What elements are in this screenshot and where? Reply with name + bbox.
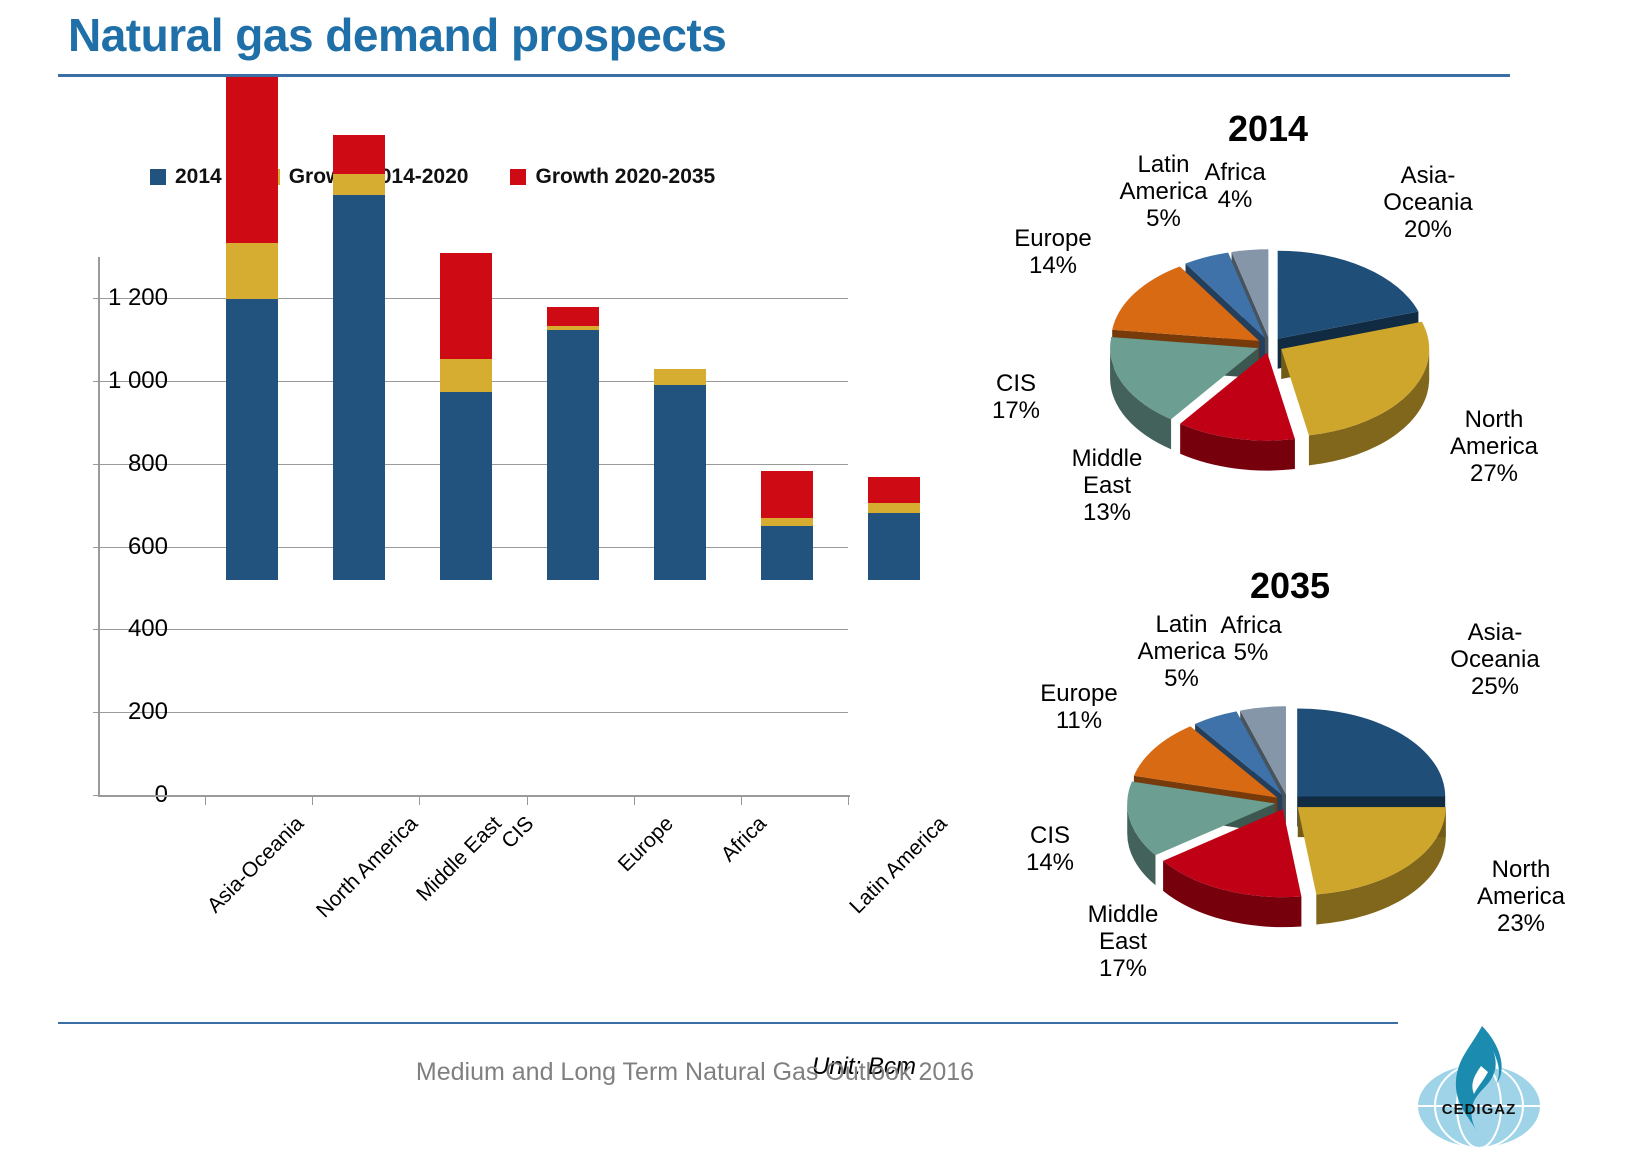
x-tick-mark bbox=[312, 795, 313, 805]
x-tick-mark bbox=[205, 795, 206, 805]
y-tick-label: 800 bbox=[128, 450, 168, 478]
bar-segment[interactable] bbox=[226, 299, 278, 580]
table-row[interactable] bbox=[226, 77, 278, 580]
legend-item-growth-2020-2035[interactable]: Growth 2020-2035 bbox=[510, 165, 715, 189]
bar-segment[interactable] bbox=[440, 359, 492, 392]
pie-2014-title: 2014 bbox=[1168, 108, 1368, 150]
bar-segment[interactable] bbox=[654, 369, 706, 385]
pie-slice-label: Africa 4% bbox=[1180, 160, 1290, 214]
legend-label-growth-2020-2035: Growth 2020-2035 bbox=[535, 165, 715, 189]
y-tick-label: 600 bbox=[128, 533, 168, 561]
y-tick-mark bbox=[93, 381, 100, 382]
bar-plot-area bbox=[98, 257, 848, 795]
bar-segment[interactable] bbox=[761, 518, 813, 526]
table-row[interactable] bbox=[547, 307, 599, 580]
x-tick-mark bbox=[848, 795, 849, 805]
x-axis-line bbox=[98, 795, 850, 797]
bar-segment[interactable] bbox=[547, 330, 599, 580]
globe-flame-icon bbox=[1404, 1018, 1554, 1158]
bar-segment[interactable] bbox=[761, 526, 813, 580]
x-axis-label: CIS bbox=[497, 812, 539, 854]
y-tick-mark bbox=[93, 547, 100, 548]
bar-segment[interactable] bbox=[226, 77, 278, 243]
y-tick-label: 200 bbox=[128, 698, 168, 726]
x-axis-label: Europe bbox=[614, 812, 679, 877]
bar-segment[interactable] bbox=[440, 253, 492, 359]
logo-wordmark: CEDIGAZ bbox=[1404, 1101, 1554, 1118]
bar-segment[interactable] bbox=[868, 503, 920, 513]
bar-segment[interactable] bbox=[868, 513, 920, 580]
y-tick-mark bbox=[93, 464, 100, 465]
page-title: Natural gas demand prospects bbox=[68, 8, 726, 62]
pie-slice-label: Asia- Oceania 25% bbox=[1405, 620, 1585, 701]
y-tick-mark bbox=[93, 712, 100, 713]
pie-slice-label: CIS 14% bbox=[995, 823, 1105, 877]
table-row[interactable] bbox=[761, 471, 813, 580]
legend-item-2014[interactable]: 2014 bbox=[150, 165, 222, 189]
bar-segment[interactable] bbox=[333, 135, 385, 174]
legend-swatch-growth-2020-2035 bbox=[510, 169, 526, 185]
x-tick-mark bbox=[741, 795, 742, 805]
legend-swatch-2014 bbox=[150, 169, 166, 185]
pie-2035-title: 2035 bbox=[1190, 565, 1390, 607]
stacked-bar-chart: 2014 Growth 2014-2020 Growth 2020-2035 0… bbox=[0, 90, 920, 1010]
pie-slice-label: North America 27% bbox=[1404, 407, 1584, 488]
y-tick-label: 400 bbox=[128, 615, 168, 643]
y-tick-mark bbox=[93, 629, 100, 630]
x-tick-mark bbox=[527, 795, 528, 805]
x-axis-label: North America bbox=[312, 812, 423, 923]
gridline bbox=[100, 712, 848, 713]
pie-slice-label: CIS 17% bbox=[961, 371, 1071, 425]
y-tick-label: 1 200 bbox=[108, 284, 168, 312]
table-row[interactable] bbox=[333, 135, 385, 580]
table-row[interactable] bbox=[440, 253, 492, 580]
bar-segment[interactable] bbox=[868, 477, 920, 504]
footer-divider bbox=[58, 1022, 1398, 1024]
bar-segment[interactable] bbox=[440, 392, 492, 580]
pie-slice[interactable]: Asia-Oceania 25% bbox=[1297, 708, 1445, 796]
pie-slice-label: Europe 14% bbox=[988, 226, 1118, 280]
x-axis-label: Asia-Oceania bbox=[202, 812, 308, 918]
table-row[interactable] bbox=[654, 369, 706, 580]
x-tick-mark bbox=[634, 795, 635, 805]
gridline bbox=[100, 629, 848, 630]
table-row[interactable] bbox=[868, 477, 920, 580]
bar-segment[interactable] bbox=[333, 195, 385, 580]
bar-segment[interactable] bbox=[654, 385, 706, 580]
footer-caption: Medium and Long Term Natural Gas Outlook… bbox=[0, 1058, 1390, 1087]
pie-slice-label: Middle East 13% bbox=[1042, 446, 1172, 527]
bar-segment[interactable] bbox=[226, 243, 278, 299]
pie-slice-label: North America 23% bbox=[1436, 857, 1606, 938]
bar-segment[interactable] bbox=[547, 307, 599, 326]
x-axis-label: Latin America bbox=[846, 812, 953, 919]
x-axis-label: Africa bbox=[717, 812, 772, 867]
bar-segment[interactable] bbox=[333, 174, 385, 195]
pie-slice-label: Africa 5% bbox=[1196, 613, 1306, 667]
y-tick-label: 1 000 bbox=[108, 367, 168, 395]
y-tick-mark bbox=[93, 298, 100, 299]
legend-label-2014: 2014 bbox=[175, 165, 222, 189]
pie-slice-label: Asia- Oceania 20% bbox=[1338, 163, 1518, 244]
x-axis-label: Middle East bbox=[412, 812, 507, 907]
bar-segment[interactable] bbox=[761, 471, 813, 518]
pie-slice-label: Middle East 17% bbox=[1058, 902, 1188, 983]
x-tick-mark bbox=[419, 795, 420, 805]
